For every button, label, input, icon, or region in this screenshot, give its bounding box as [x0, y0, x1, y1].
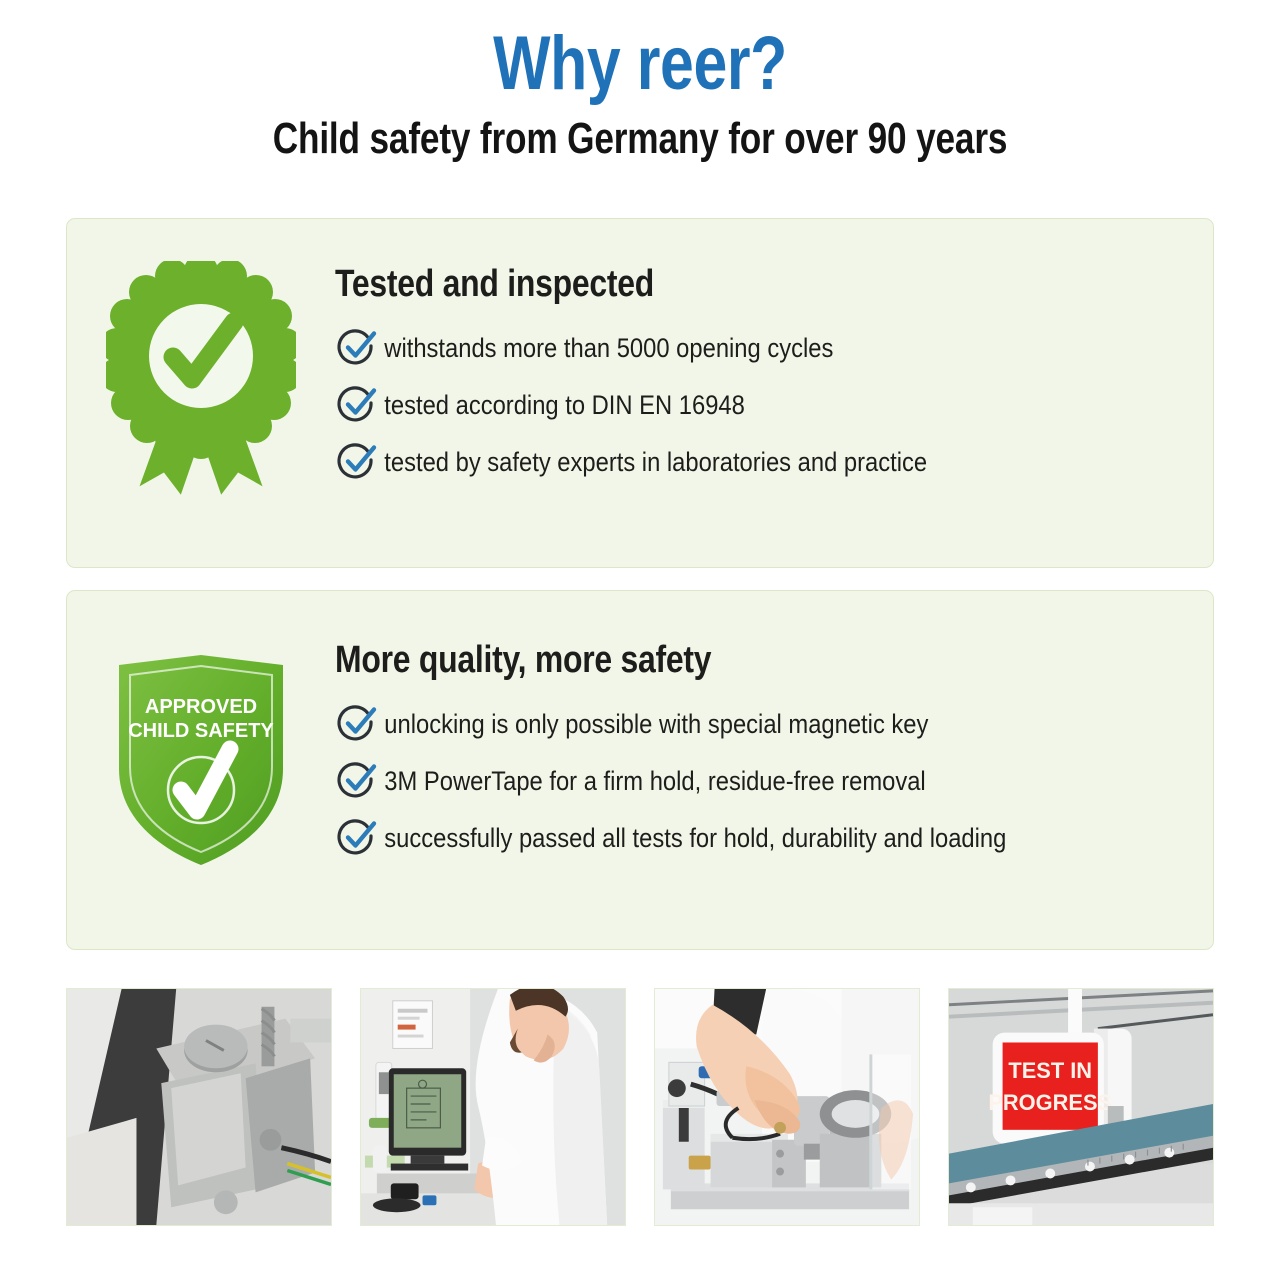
- list-item: unlocking is only possible with special …: [335, 704, 1213, 744]
- card-heading: Tested and inspected: [335, 263, 1073, 306]
- card-more-quality-more-safety: APPROVED CHILD SAFETY More quality, more…: [66, 590, 1214, 950]
- page-title: Why reer?: [128, 26, 1152, 102]
- list-item-label: withstands more than 5000 opening cycles: [379, 332, 833, 364]
- list-item: tested by safety experts in laboratories…: [335, 442, 1213, 482]
- content-column: Tested and inspected withstands more tha…: [335, 219, 1213, 482]
- check-circle-icon: [335, 704, 379, 744]
- sign-line1: TEST IN: [1008, 1058, 1092, 1083]
- sign-line2: PROGRESS: [988, 1090, 1112, 1115]
- list-item: withstands more than 5000 opening cycles: [335, 328, 1213, 368]
- photo-test-in-progress-sign: TEST IN PROGRESS: [948, 988, 1214, 1226]
- card-tested-and-inspected: Tested and inspected withstands more tha…: [66, 218, 1214, 568]
- page-header: Why reer? Child safety from Germany for …: [0, 0, 1280, 162]
- photo-gallery: TEST IN PROGRESS: [66, 988, 1214, 1226]
- check-circle-icon: [335, 442, 379, 482]
- badge-column: [67, 219, 335, 516]
- check-circle-icon: [335, 328, 379, 368]
- shield-line2: CHILD SAFETY: [128, 720, 274, 742]
- list-item: tested according to DIN EN 16948: [335, 385, 1213, 425]
- list-item-label: successfully passed all tests for hold, …: [379, 822, 1006, 854]
- photo-hand-test-equipment: [654, 988, 920, 1226]
- list-item-label: 3M PowerTape for a firm hold, residue-fr…: [379, 765, 926, 797]
- list-item-label: tested according to DIN EN 16948: [379, 389, 745, 421]
- award-rosette-icon: [106, 261, 296, 516]
- bullet-list: unlocking is only possible with special …: [335, 704, 1213, 858]
- badge-column: APPROVED CHILD SAFETY: [67, 591, 335, 874]
- list-item: 3M PowerTape for a firm hold, residue-fr…: [335, 761, 1213, 801]
- photo-test-rig-clamp: [66, 988, 332, 1226]
- page-subtitle: Child safety from Germany for over 90 ye…: [128, 116, 1152, 162]
- content-column: More quality, more safety unlocking is o…: [335, 591, 1213, 858]
- shield-line1: APPROVED: [145, 696, 257, 718]
- card-heading: More quality, more safety: [335, 639, 1073, 682]
- bullet-list: withstands more than 5000 opening cycles…: [335, 328, 1213, 482]
- check-circle-icon: [335, 818, 379, 858]
- list-item: successfully passed all tests for hold, …: [335, 818, 1213, 858]
- photo-lab-technician-monitor: [360, 988, 626, 1226]
- check-circle-icon: [335, 761, 379, 801]
- list-item-label: unlocking is only possible with special …: [379, 708, 928, 740]
- check-circle-icon: [335, 385, 379, 425]
- shield-approved-icon: APPROVED CHILD SAFETY: [111, 651, 291, 874]
- list-item-label: tested by safety experts in laboratories…: [379, 446, 927, 478]
